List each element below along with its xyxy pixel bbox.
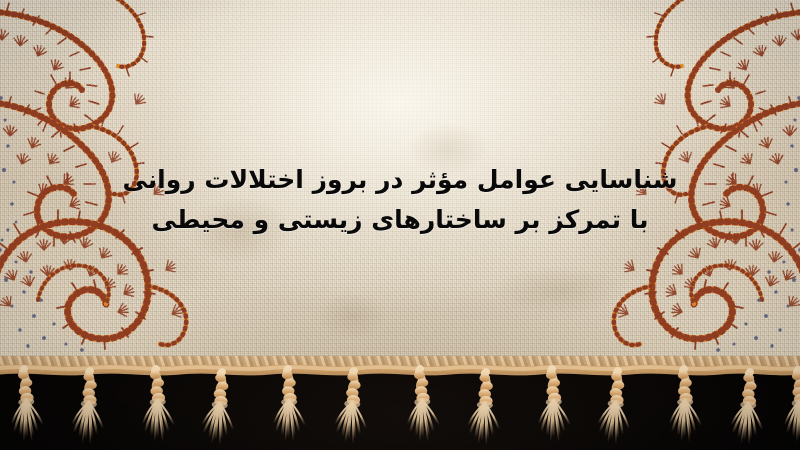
title-line-2: با تمرکز بر ساختارهای زیستی و محیطی [0,200,800,240]
embroidered-cloth: شناسایی عوامل مؤثر در بروز اختلالات روان… [0,0,800,372]
slide-title: شناسایی عوامل مؤثر در بروز اختلالات روان… [0,160,800,240]
title-slide: شناسایی عوامل مؤثر در بروز اختلالات روان… [0,0,800,450]
title-line-1: شناسایی عوامل مؤثر در بروز اختلالات روان… [0,160,800,200]
tassel-fringe [0,360,800,450]
